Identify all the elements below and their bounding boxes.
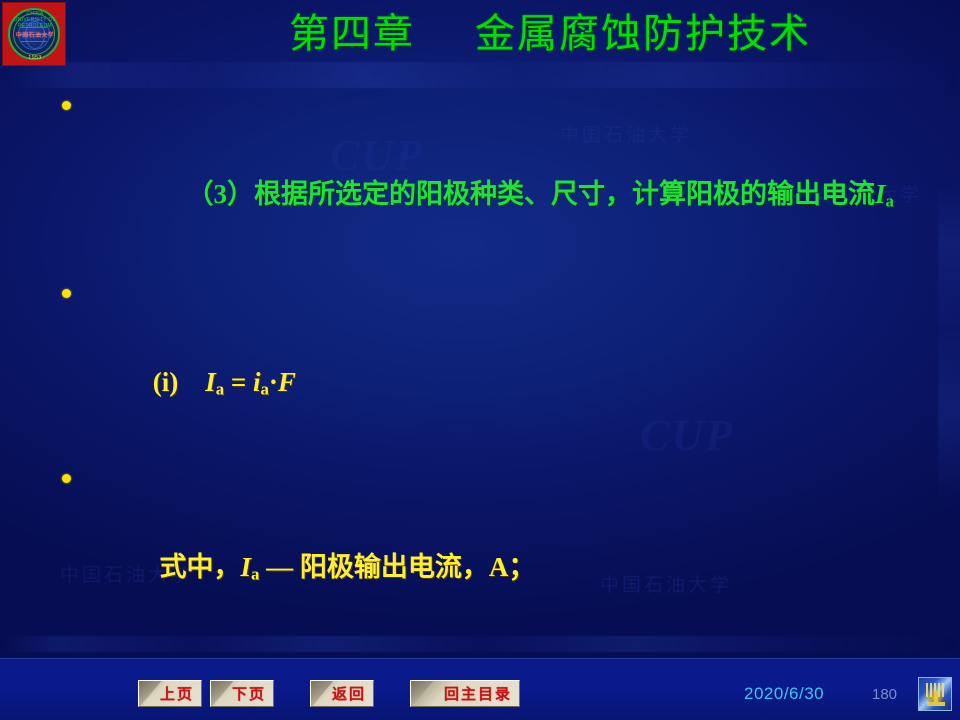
bullet-dot-icon xyxy=(62,474,71,483)
university-logo: CHINA UNIVERSITY OF PETROLEUM 中国石油大学 195… xyxy=(2,2,66,66)
bullet-dot-icon xyxy=(62,289,71,298)
prev-page-label: 上页 xyxy=(160,683,194,704)
bullet-line-3: 式中，Ia — 阳极输出电流，A； xyxy=(0,457,960,641)
back-label: 返回 xyxy=(332,683,366,704)
prev-page-button[interactable]: 上页 xyxy=(138,680,202,707)
logo-year: 1953 xyxy=(10,55,60,61)
date-stamp: 2020/6/30 xyxy=(744,684,824,704)
bullet-line-1-text: （3）根据所选定的阳极种类、尺寸，计算阳极的输出电流Ia xyxy=(133,179,894,209)
bullet-line-1: （3）根据所选定的阳极种类、尺寸，计算阳极的输出电流Ia xyxy=(0,84,960,268)
slide-body: （3）根据所选定的阳极种类、尺寸，计算阳极的输出电流Ia (i) Ia = ia… xyxy=(0,78,960,720)
next-page-button[interactable]: 下页 xyxy=(210,680,274,707)
bullet-line-2: (i) Ia = ia·F xyxy=(0,272,960,456)
page-number: 180 xyxy=(872,686,897,703)
main-menu-label: 回主目录 xyxy=(444,683,512,704)
logo-arc-text: CHINA UNIVERSITY OF PETROLEUM xyxy=(10,11,60,29)
bullet-dot-icon xyxy=(62,101,71,110)
main-menu-button[interactable]: 回主目录 xyxy=(410,680,520,707)
bullet-line-2-text: (i) Ia = ia·F xyxy=(133,367,296,397)
back-button[interactable]: 返回 xyxy=(310,680,374,707)
logo-center-mark: 中国石油大学 xyxy=(15,30,55,39)
presentation-slide: CUP CUP 中国石油大学 中国石油大学 中国石油大学 中国石油大学 CHIN… xyxy=(0,0,960,720)
next-page-label: 下页 xyxy=(232,683,266,704)
slide-title: 第四章 金属腐蚀防护技术 xyxy=(200,8,900,60)
lamp-icon xyxy=(918,677,952,711)
bullet-line-3-text: 式中，Ia — 阳极输出电流，A； xyxy=(133,552,536,582)
lamp-base xyxy=(927,702,945,706)
